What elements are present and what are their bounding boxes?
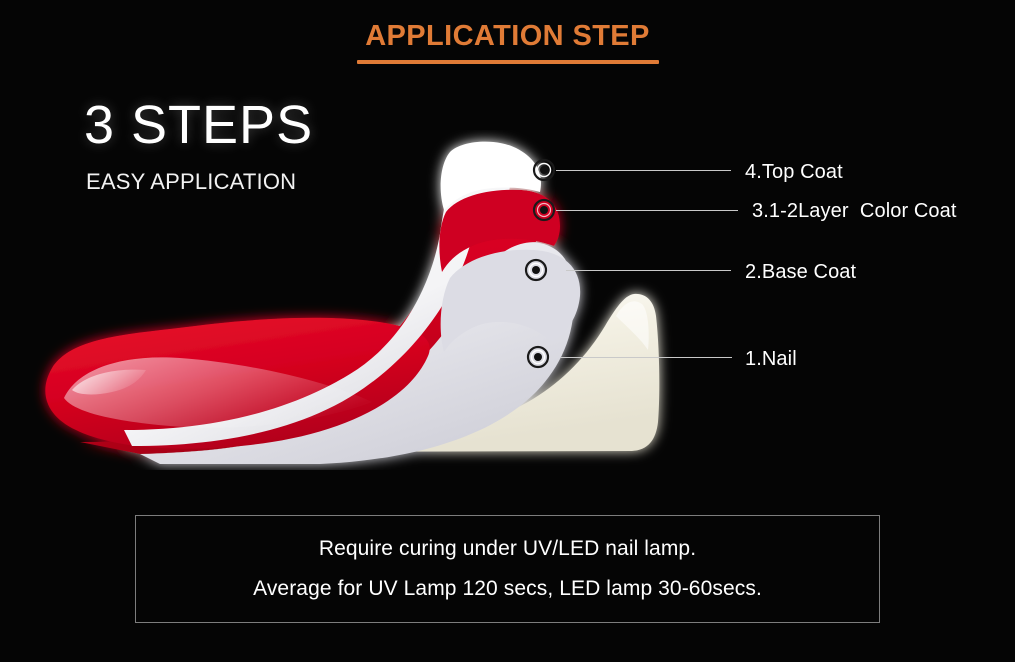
callout-label-base-coat: 2.Base Coat xyxy=(745,259,856,285)
leader-line-base-coat xyxy=(566,270,731,271)
leader-line-nail xyxy=(560,357,732,358)
leader-line-color-coat xyxy=(556,210,738,211)
curing-note-line-1: Require curing under UV/LED nail lamp. xyxy=(319,529,696,569)
nail-layers-illustration xyxy=(20,130,700,470)
curing-note-line-2: Average for UV Lamp 120 secs, LED lamp 3… xyxy=(253,569,762,609)
callout-marker-base-coat xyxy=(526,260,546,280)
callout-marker-nail xyxy=(528,347,548,367)
curing-note-box: Require curing under UV/LED nail lamp. A… xyxy=(135,515,880,623)
title-underline-rule xyxy=(357,60,659,64)
callout-label-color-coat: 3.1-2Layer Color Coat xyxy=(752,198,957,224)
callout-marker-color-coat xyxy=(534,200,554,220)
title-block: APPLICATION STEP xyxy=(0,18,1015,64)
application-step-infographic: APPLICATION STEP 3 STEPS EASY APPLICATIO… xyxy=(0,0,1015,662)
leader-line-top-coat xyxy=(556,170,731,171)
callout-label-nail: 1.Nail xyxy=(745,346,797,372)
callout-label-top-coat: 4.Top Coat xyxy=(745,159,843,185)
page-title: APPLICATION STEP xyxy=(0,18,1015,54)
callout-marker-top-coat xyxy=(534,160,554,180)
